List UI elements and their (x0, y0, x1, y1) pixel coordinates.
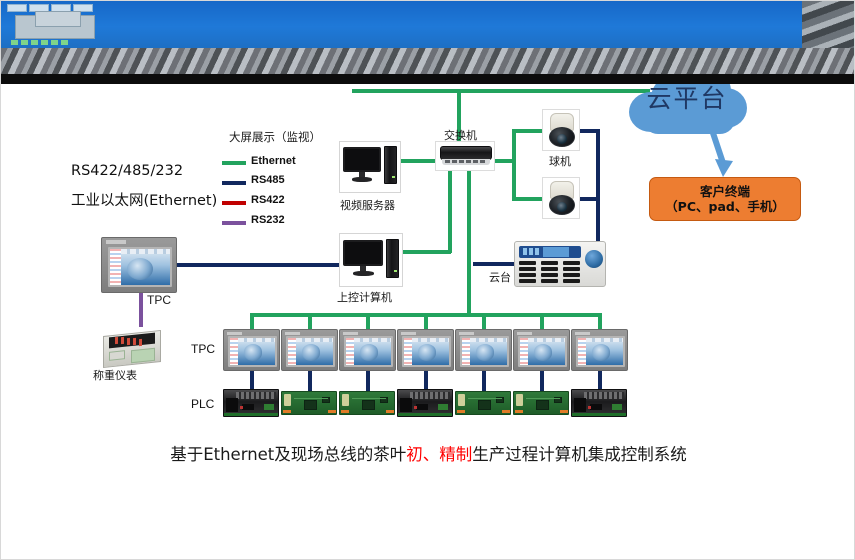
wire-ethernet-switch-field-riser (467, 171, 471, 315)
caption-highlight: 初、精制 (406, 445, 472, 464)
caption-pre: 基于Ethernet及现场总线的茶叶 (170, 445, 406, 464)
legend-label-ethernet: Ethernet (251, 155, 296, 167)
wire-ethernet-host-branch (401, 250, 451, 254)
legend-label-rs422: RS422 (251, 194, 285, 206)
weighing-instrument-label: 称重仪表 (93, 367, 137, 383)
wire-rs485-plc-drop-1 (250, 371, 254, 391)
field-tpc-panel[interactable] (455, 329, 512, 371)
dome-camera-1[interactable] (542, 109, 580, 151)
field-tpc-panel[interactable] (397, 329, 454, 371)
operator-tpc-panel[interactable] (101, 237, 177, 293)
video-wall-label: 大屏展示（监视） (229, 129, 321, 145)
diagram-canvas: 云平台 客户终端 （PC、pad、手机） 大屏展示（监视） RS422/ (0, 0, 855, 560)
wire-rs485-plc-drop-2 (308, 371, 312, 391)
wire-rs485-plc-drop-7 (598, 371, 602, 391)
field-tpc-panel[interactable] (339, 329, 396, 371)
dome-camera-1-label: 球机 (549, 153, 571, 169)
ptz-keyboard-label: 云台 (489, 269, 511, 285)
legend-swatch-rs485 (222, 181, 246, 185)
cloud-platform-label: 云平台 (625, 79, 749, 115)
legend-label-rs232: RS232 (251, 214, 285, 226)
weighing-instrument[interactable] (97, 327, 167, 371)
video-server-label: 视频服务器 (340, 197, 395, 213)
field-tpc-panel[interactable] (223, 329, 280, 371)
plc-io-board[interactable] (455, 391, 511, 415)
plc-controller[interactable] (223, 389, 279, 417)
legend-swatch-ethernet (222, 161, 246, 165)
side-note-line1: RS422/485/232 (71, 163, 183, 179)
wire-rs485-plc-drop-6 (540, 371, 544, 391)
side-note-line2: 工业以太网(Ethernet) (71, 189, 217, 210)
plc-controller[interactable] (571, 389, 627, 417)
wire-ethernet-camera2-branch (512, 197, 544, 201)
plc-controller[interactable] (397, 389, 453, 417)
wire-rs485-plc-drop-4 (424, 371, 428, 391)
wire-rs485-plc-drop-5 (482, 371, 486, 391)
legend-swatch-rs422 (222, 201, 246, 205)
caption-post: 生产过程计算机集成控制系统 (472, 445, 687, 464)
wire-ethernet-top-bus (352, 89, 650, 93)
host-control-computer[interactable] (339, 233, 403, 287)
network-switch-label: 交换机 (444, 127, 477, 143)
client-terminal-box[interactable]: 客户终端 （PC、pad、手机） (649, 177, 801, 221)
wire-ethernet-videoserver-switch (399, 159, 439, 163)
network-switch[interactable] (435, 141, 495, 171)
video-wall-display[interactable] (1, 1, 153, 84)
ptz-control-keyboard[interactable] (514, 241, 606, 287)
plc-io-board[interactable] (281, 391, 337, 415)
operator-tpc-label: TPC (147, 293, 171, 307)
wire-ethernet-switch-host-riser (448, 171, 452, 253)
field-tpc-panel[interactable] (571, 329, 628, 371)
row-label-plc: PLC (191, 397, 214, 411)
plc-io-board[interactable] (339, 391, 395, 415)
wire-rs485-plc-drop-3 (366, 371, 370, 391)
plc-io-board[interactable] (513, 391, 569, 415)
video-server[interactable] (339, 141, 401, 193)
wire-rs485-tpc-host (170, 263, 366, 267)
cloud-to-client-arrow (701, 131, 741, 179)
row-label-tpc: TPC (191, 342, 215, 356)
field-tpc-panel[interactable] (513, 329, 570, 371)
dome-camera-2[interactable] (542, 177, 580, 219)
client-terminal-line2: （PC、pad、手机） (665, 199, 785, 214)
wire-ethernet-camera1-branch (512, 129, 544, 133)
wire-ethernet-camera-bracket (512, 129, 516, 201)
field-tpc-panel[interactable] (281, 329, 338, 371)
diagram-caption: 基于Ethernet及现场总线的茶叶初、精制生产过程计算机集成控制系统 (1, 441, 855, 465)
client-terminal-line1: 客户终端 (700, 184, 750, 199)
host-control-computer-label: 上控计算机 (337, 289, 392, 305)
legend-label-rs485: RS485 (251, 174, 285, 186)
legend-swatch-rs232 (222, 221, 246, 225)
